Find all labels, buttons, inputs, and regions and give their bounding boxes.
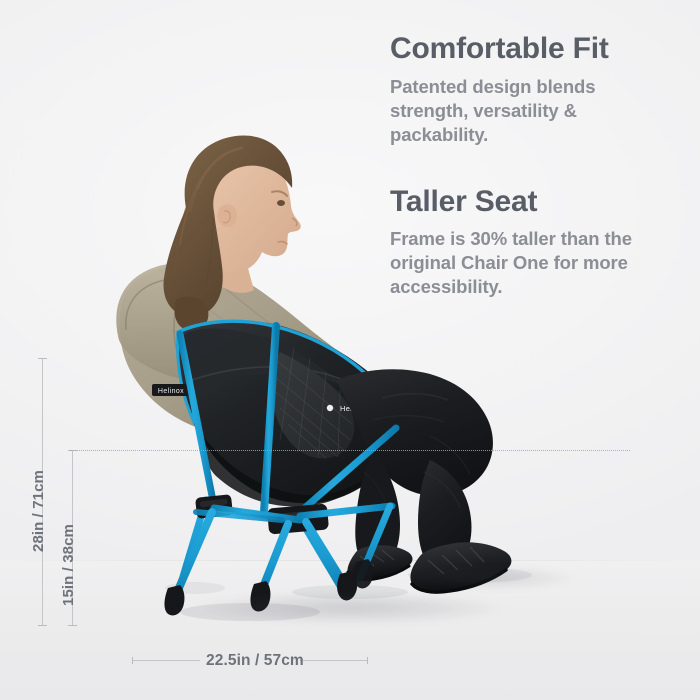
svg-text:Helinox: Helinox [158,388,184,395]
person-floor-shadow [380,560,610,596]
product-feature-image: Helinox Helinox [0,0,700,700]
dimension-cap-bottom [38,625,47,626]
feature-block-comfortable-fit: Comfortable Fit Patented design blends s… [390,32,670,147]
dimension-cap-left [132,657,133,664]
feature-body: Patented design blends strength, versati… [390,75,670,147]
dimension-label-width: 22.5in / 57cm [206,652,304,670]
feature-heading: Comfortable Fit [390,32,670,66]
dimension-cap-right [367,657,368,664]
dimension-cap-bottom [68,625,77,626]
seat-height-guide-line [70,450,630,451]
feature-block-taller-seat: Taller Seat Frame is 30% taller than the… [390,185,670,300]
feature-heading: Taller Seat [390,185,670,219]
dimension-label-seat-height: 15in / 38cm [60,524,77,606]
dimension-cap-top [38,358,47,359]
ear [217,204,237,227]
dimension-line-width-left [132,660,200,661]
feature-text-panel: Comfortable Fit Patented design blends s… [390,32,670,299]
feature-body: Frame is 30% taller than the original Ch… [390,227,670,299]
brand-tag-back: Helinox [152,384,190,396]
dimension-line-width-right [300,660,368,661]
dimension-label-total-height: 28in / 71cm [30,470,47,552]
